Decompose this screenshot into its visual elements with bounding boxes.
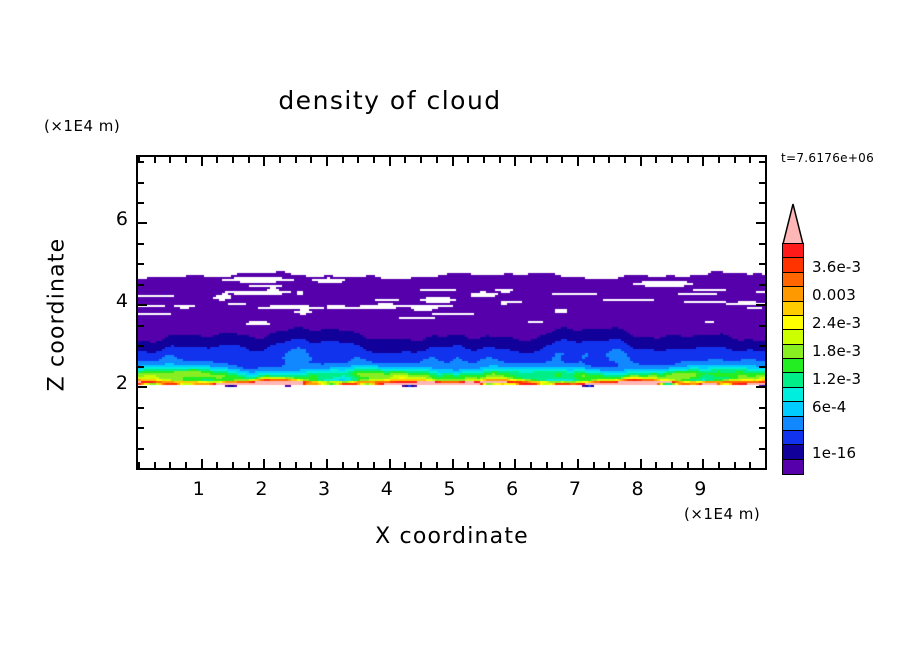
tick-mark	[389, 459, 391, 468]
tick-mark	[759, 366, 765, 368]
tick-mark	[373, 462, 375, 468]
tick-mark	[640, 459, 642, 468]
tick-mark	[756, 304, 765, 306]
tick-mark	[702, 459, 704, 468]
tick-mark	[138, 366, 144, 368]
colorbar-tick-label: 6e-4	[812, 398, 847, 416]
colorbar-tick-label: 1.2e-3	[812, 370, 861, 388]
tick-mark	[310, 462, 312, 468]
colorbar-tick-label: 3.6e-3	[812, 258, 861, 276]
tick-mark	[640, 157, 642, 166]
tick-mark	[718, 462, 720, 468]
tick-mark	[138, 468, 144, 470]
tick-mark	[687, 462, 689, 468]
y-tick-label: 6	[96, 208, 128, 230]
tick-mark	[452, 157, 454, 166]
x-axis-title: X coordinate	[0, 524, 904, 549]
tick-mark	[452, 459, 454, 468]
tick-mark	[759, 345, 765, 347]
x-tick-label: 5	[430, 478, 470, 500]
colorbar-band	[783, 330, 803, 344]
tick-mark	[749, 157, 751, 163]
tick-mark	[263, 459, 265, 468]
tick-mark	[561, 157, 563, 163]
y-tick-label: 2	[96, 372, 128, 394]
x-axis-unit-label: (×1E4 m)	[684, 505, 760, 523]
tick-mark	[357, 462, 359, 468]
tick-mark	[138, 325, 144, 327]
page-title: density of cloud	[0, 86, 780, 115]
tick-mark	[759, 468, 765, 470]
colorbar-tick-label: 2.4e-3	[812, 314, 861, 332]
tick-mark	[499, 157, 501, 163]
x-tick-label: 8	[618, 478, 658, 500]
tick-mark	[138, 427, 144, 429]
tick-mark	[624, 157, 626, 163]
tick-mark	[756, 386, 765, 388]
x-tick-label: 4	[367, 478, 407, 500]
tick-mark	[759, 407, 765, 409]
tick-mark	[608, 157, 610, 163]
tick-mark	[749, 462, 751, 468]
tick-mark	[342, 157, 344, 163]
tick-mark	[759, 427, 765, 429]
tick-mark	[483, 157, 485, 163]
tick-mark	[655, 157, 657, 163]
tick-mark	[759, 161, 765, 163]
colorbar[interactable]	[782, 243, 804, 475]
tick-mark	[561, 462, 563, 468]
tick-mark	[765, 462, 767, 468]
tick-mark	[734, 462, 736, 468]
colorbar-band	[783, 417, 803, 431]
colorbar-band	[783, 302, 803, 316]
colorbar-band	[783, 316, 803, 330]
colorbar-tick-label: 0.003	[812, 286, 856, 304]
figure-canvas: density of cloud (×1E4 m) (×1E4 m) t=7.6…	[0, 0, 904, 654]
tick-mark	[404, 157, 406, 163]
tick-mark	[138, 263, 144, 265]
tick-mark	[577, 459, 579, 468]
contour-field	[138, 157, 765, 468]
tick-mark	[138, 222, 147, 224]
tick-mark	[295, 462, 297, 468]
tick-mark	[530, 462, 532, 468]
tick-mark	[232, 157, 234, 163]
tick-mark	[718, 157, 720, 163]
tick-mark	[185, 462, 187, 468]
tick-mark	[279, 462, 281, 468]
tick-mark	[759, 263, 765, 265]
tick-mark	[326, 157, 328, 166]
y-tick-label: 4	[96, 290, 128, 312]
tick-mark	[608, 462, 610, 468]
tick-mark	[138, 386, 147, 388]
tick-mark	[389, 157, 391, 166]
tick-mark	[404, 462, 406, 468]
tick-mark	[248, 157, 250, 163]
tick-mark	[357, 157, 359, 163]
tick-mark	[756, 222, 765, 224]
tick-mark	[216, 157, 218, 163]
colorbar-band	[783, 273, 803, 287]
x-tick-label: 2	[241, 478, 281, 500]
tick-mark	[201, 157, 203, 166]
tick-mark	[759, 182, 765, 184]
tick-mark	[138, 243, 144, 245]
tick-mark	[514, 157, 516, 166]
tick-mark	[279, 157, 281, 163]
tick-mark	[138, 448, 144, 450]
colorbar-tick-label: 1e-16	[812, 444, 856, 462]
x-tick-label: 1	[179, 478, 219, 500]
x-tick-label: 3	[304, 478, 344, 500]
colorbar-band	[783, 244, 803, 258]
tick-mark	[138, 304, 147, 306]
tick-mark	[593, 462, 595, 468]
tick-mark	[201, 459, 203, 468]
tick-mark	[248, 462, 250, 468]
colorbar-band	[783, 258, 803, 272]
tick-mark	[467, 462, 469, 468]
tick-mark	[263, 157, 265, 166]
colorbar-tick-label: 1.8e-3	[812, 342, 861, 360]
tick-mark	[687, 157, 689, 163]
colorbar-band	[783, 445, 803, 459]
tick-mark	[671, 157, 673, 163]
tick-mark	[671, 462, 673, 468]
colorbar-overflow-arrow	[782, 203, 804, 245]
colorbar-band	[783, 388, 803, 402]
tick-mark	[138, 202, 144, 204]
tick-mark	[759, 243, 765, 245]
tick-mark	[138, 407, 144, 409]
colorbar-band	[783, 402, 803, 416]
colorbar-band	[783, 287, 803, 301]
tick-mark	[759, 448, 765, 450]
colorbar-band	[783, 431, 803, 445]
tick-mark	[169, 157, 171, 163]
tick-mark	[759, 202, 765, 204]
tick-mark	[420, 157, 422, 163]
x-tick-label: 9	[680, 478, 720, 500]
tick-mark	[326, 459, 328, 468]
tick-mark	[530, 157, 532, 163]
tick-mark	[138, 182, 144, 184]
tick-mark	[467, 157, 469, 163]
plot-area	[136, 155, 767, 470]
tick-mark	[420, 462, 422, 468]
tick-mark	[138, 161, 144, 163]
tick-mark	[342, 462, 344, 468]
tick-mark	[483, 462, 485, 468]
time-stamp-annotation: t=7.6176e+06	[781, 151, 874, 165]
tick-mark	[138, 345, 144, 347]
tick-mark	[759, 284, 765, 286]
colorbar-band	[783, 359, 803, 373]
tick-mark	[759, 325, 765, 327]
tick-mark	[232, 462, 234, 468]
tick-mark	[514, 459, 516, 468]
x-tick-label: 7	[555, 478, 595, 500]
tick-mark	[765, 157, 767, 163]
tick-mark	[577, 157, 579, 166]
tick-mark	[169, 462, 171, 468]
tick-mark	[702, 157, 704, 166]
tick-mark	[655, 462, 657, 468]
tick-mark	[138, 284, 144, 286]
tick-mark	[154, 462, 156, 468]
tick-mark	[593, 157, 595, 163]
tick-mark	[154, 157, 156, 163]
tick-mark	[295, 157, 297, 163]
tick-mark	[546, 462, 548, 468]
tick-mark	[216, 462, 218, 468]
tick-mark	[310, 157, 312, 163]
tick-mark	[436, 462, 438, 468]
tick-mark	[185, 157, 187, 163]
tick-mark	[499, 462, 501, 468]
tick-mark	[546, 157, 548, 163]
colorbar-band	[783, 460, 803, 474]
tick-mark	[373, 157, 375, 163]
tick-mark	[436, 157, 438, 163]
colorbar-band	[783, 345, 803, 359]
y-axis-title: Z coordinate	[45, 235, 70, 395]
colorbar-band	[783, 373, 803, 387]
z-axis-unit-label: (×1E4 m)	[44, 117, 120, 135]
tick-mark	[624, 462, 626, 468]
tick-mark	[734, 157, 736, 163]
x-tick-label: 6	[492, 478, 532, 500]
